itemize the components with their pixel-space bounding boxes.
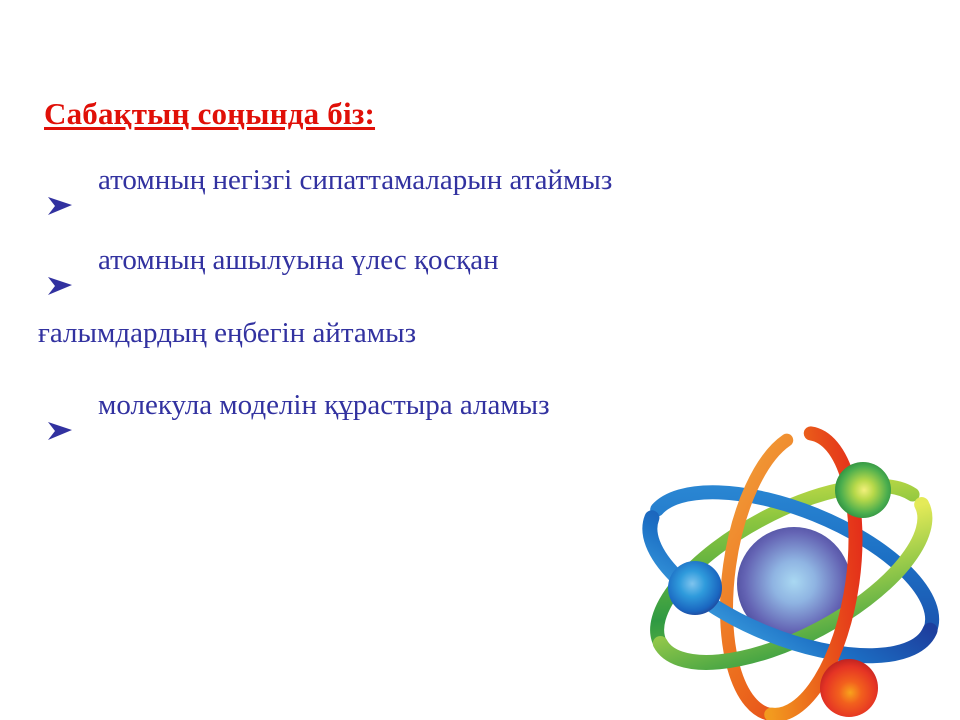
- list-item: атомның негізгі сипаттамаларын атаймыз: [44, 164, 612, 197]
- atom-illustration: [626, 414, 956, 720]
- slide-canvas: Сабақтың соңында біз: атомның негізгі си…: [0, 0, 960, 720]
- list-item-label: молекула моделін құрастыра аламыз: [98, 389, 550, 422]
- page-title: Сабақтың соңында біз:: [44, 96, 375, 132]
- text-content: Сабақтың соңында біз: атомның негізгі си…: [0, 0, 960, 460]
- electron-green: [835, 462, 891, 518]
- list-item: молекула моделін құрастыра аламыз: [44, 389, 550, 422]
- electron-blue: [668, 561, 722, 615]
- list-item-continuation: ғалымдардың еңбегін айтамыз: [38, 317, 416, 350]
- list-item-label: атомның негізгі сипаттамаларын атаймыз: [98, 164, 612, 197]
- list-item-label: атомның ашылуына үлес қосқан: [98, 244, 499, 277]
- list-item: атомның ашылуына үлес қосқан: [44, 244, 499, 277]
- electron-red: [820, 659, 878, 717]
